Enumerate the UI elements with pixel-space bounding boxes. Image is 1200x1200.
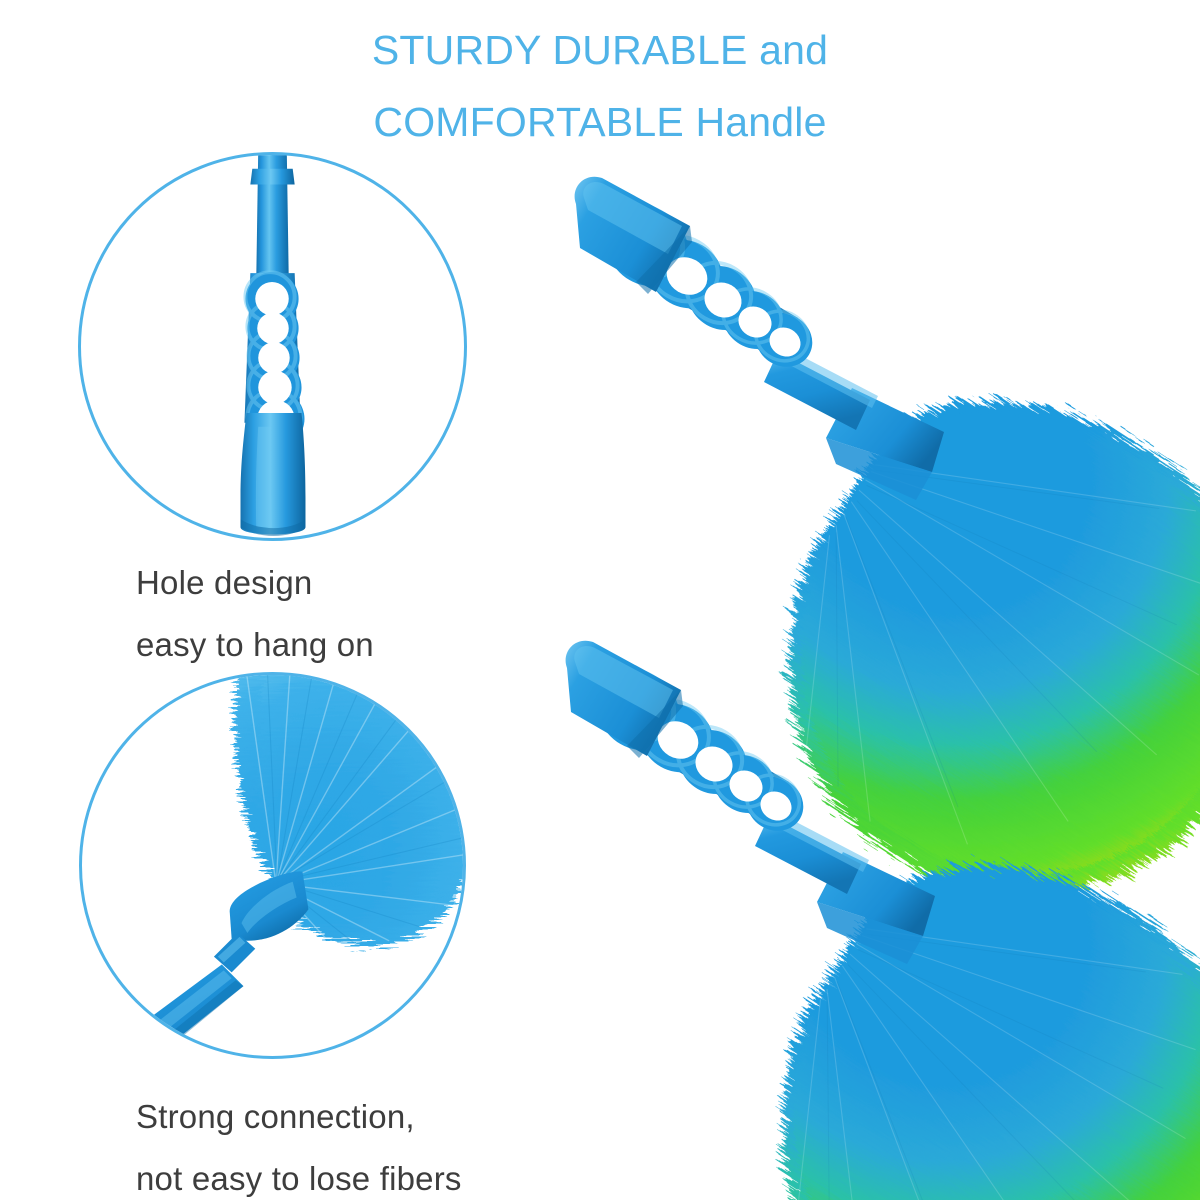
callout-handle-rod <box>92 964 244 1056</box>
caption-strong-connection-line-2: not easy to lose fibers <box>136 1148 462 1200</box>
caption-strong-connection-line-1: Strong connection, <box>136 1086 462 1148</box>
callout-circle-strong-connection <box>79 672 466 1059</box>
callout-ferrule <box>230 871 309 940</box>
infographic-canvas: STURDY DURABLE and COMFORTABLE Handle <box>0 0 1200 1200</box>
callout-connection-artwork <box>82 675 463 1056</box>
caption-strong-connection: Strong connection, not easy to lose fibe… <box>136 1086 462 1200</box>
caption-hole-design-line-2: easy to hang on <box>136 614 374 676</box>
callout-circle-hole-design <box>78 152 467 541</box>
page-title-line-2: COMFORTABLE Handle <box>0 86 1200 158</box>
callout-hole-design-artwork <box>81 155 464 538</box>
caption-hole-design: Hole design easy to hang on <box>136 552 374 676</box>
duster-product-bottom <box>505 620 1200 1200</box>
page-title-line-1: STURDY DURABLE and <box>0 14 1200 86</box>
duster-brush-head-bottom <box>690 792 1200 1200</box>
page-title: STURDY DURABLE and COMFORTABLE Handle <box>0 14 1200 158</box>
caption-hole-design-line-1: Hole design <box>136 552 374 614</box>
